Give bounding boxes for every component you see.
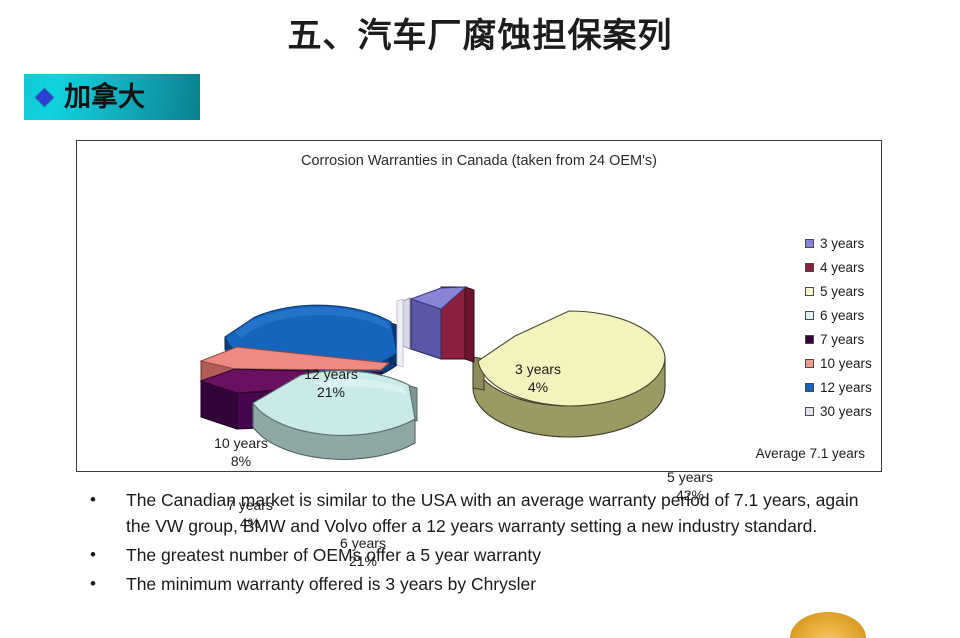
legend-item-label: 4 years xyxy=(820,260,864,275)
legend-swatch-icon xyxy=(805,383,814,392)
legend-swatch-icon xyxy=(805,407,814,416)
chart-title: Corrosion Warranties in Canada (taken fr… xyxy=(77,153,881,169)
legend-swatch-icon xyxy=(805,263,814,272)
bullet-marker-icon: • xyxy=(86,542,126,568)
chart-legend: 3 years 4 years 5 years 6 years 7 years … xyxy=(805,231,917,423)
country-badge-label: 加拿大 xyxy=(64,84,145,111)
legend-swatch-icon xyxy=(805,335,814,344)
list-item-text: The Canadian market is similar to the US… xyxy=(126,487,886,539)
pie-data-label-percent: 4% xyxy=(490,379,586,397)
legend-item-label: 5 years xyxy=(820,284,864,299)
chart-average-note: Average 7.1 years xyxy=(756,446,865,461)
list-item: • The Canadian market is similar to the … xyxy=(86,487,886,539)
pie-gap-sliver xyxy=(397,299,403,367)
legend-item-label: 30 years xyxy=(820,404,872,419)
legend-item: 6 years xyxy=(805,303,917,327)
chart-container: Corrosion Warranties in Canada (taken fr… xyxy=(76,140,882,472)
list-item-text: The minimum warranty offered is 3 years … xyxy=(126,571,886,597)
page-title: 五、汽车厂腐蚀担保案列 xyxy=(0,8,960,57)
pie-data-label-3-years: 3 years 4% xyxy=(490,361,586,396)
arc-shape xyxy=(790,612,866,638)
list-item: • The minimum warranty offered is 3 year… xyxy=(86,571,886,597)
pie-data-label-percent: 21% xyxy=(283,384,379,402)
legend-swatch-icon xyxy=(805,287,814,296)
legend-item-label: 7 years xyxy=(820,332,864,347)
pie-data-label-category: 5 years xyxy=(642,469,738,487)
legend-swatch-icon xyxy=(805,239,814,248)
list-item: • The greatest number of OEMs offer a 5 … xyxy=(86,542,886,568)
bullet-marker-icon: • xyxy=(86,571,126,597)
legend-swatch-icon xyxy=(805,311,814,320)
pie-data-label-12-years: 12 years 21% xyxy=(283,366,379,401)
legend-item-label: 12 years xyxy=(820,380,872,395)
pie-svg xyxy=(85,189,725,464)
country-badge: 加拿大 xyxy=(24,74,200,120)
pie-data-label-category: 3 years xyxy=(490,361,586,379)
legend-item: 12 years xyxy=(805,375,917,399)
legend-item-label: 6 years xyxy=(820,308,864,323)
legend-item-label: 10 years xyxy=(820,356,872,371)
legend-item: 3 years xyxy=(805,231,917,255)
pie-data-label-percent: 8% xyxy=(193,453,289,471)
legend-item: 7 years xyxy=(805,327,917,351)
pie-slice-30-years xyxy=(403,298,410,349)
legend-swatch-icon xyxy=(805,359,814,368)
bullet-marker-icon: • xyxy=(86,487,126,513)
pie-chart-graphic xyxy=(85,189,725,464)
decorative-arc xyxy=(790,612,866,638)
list-item-text: The greatest number of OEMs offer a 5 ye… xyxy=(126,542,886,568)
legend-item: 30 years xyxy=(805,399,917,423)
bullet-list: • The Canadian market is similar to the … xyxy=(86,487,886,600)
diamond-icon xyxy=(35,88,53,106)
legend-item: 5 years xyxy=(805,279,917,303)
pie-data-label-category: 12 years xyxy=(283,366,379,384)
legend-item: 10 years xyxy=(805,351,917,375)
legend-item: 4 years xyxy=(805,255,917,279)
pie-data-label-10-years: 10 years 8% xyxy=(193,435,289,470)
legend-item-label: 3 years xyxy=(820,236,864,251)
pie-data-label-category: 10 years xyxy=(193,435,289,453)
